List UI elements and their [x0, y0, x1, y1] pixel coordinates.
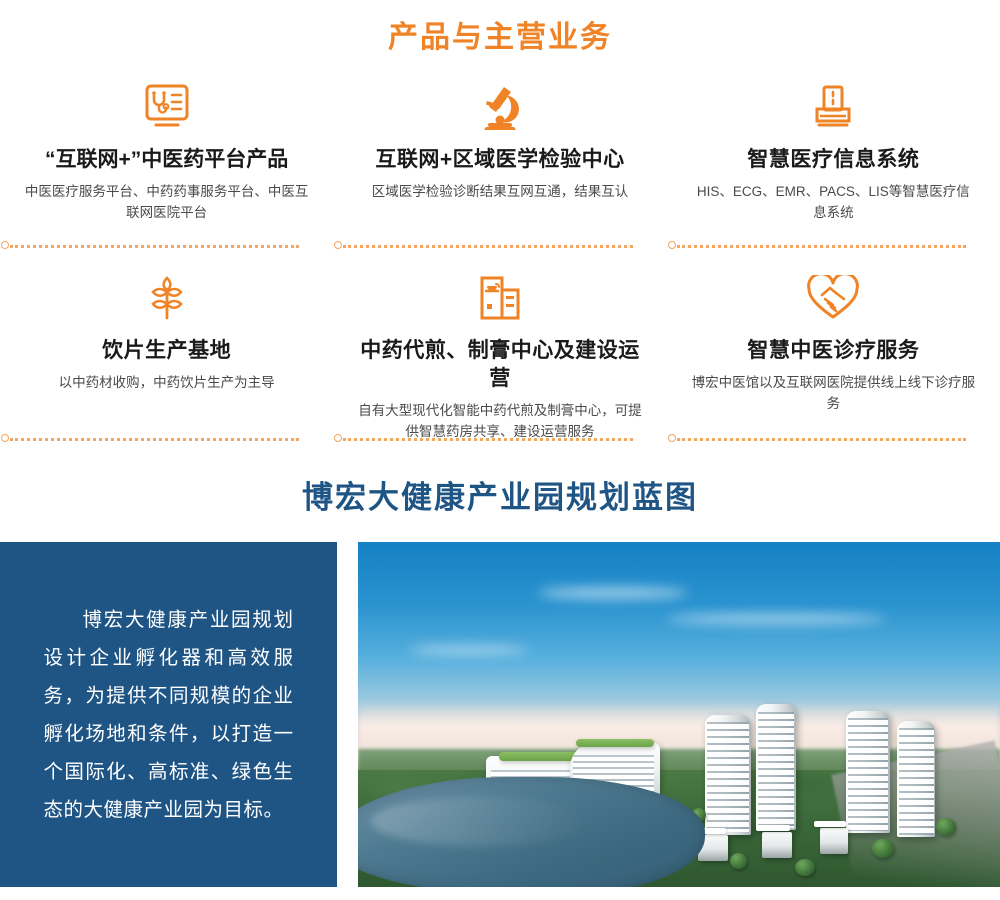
- divider-dot-icon: [1, 434, 9, 442]
- divider-dot-icon: [668, 434, 676, 442]
- product-card-title: 互联网+区域医学检验中心: [351, 146, 648, 174]
- villa-building: [762, 832, 792, 858]
- product-card-title: 中药代煎、制膏中心及建设运营: [351, 337, 648, 393]
- decoction-factory-icon: [351, 271, 648, 325]
- villa-building: [820, 828, 848, 854]
- products-section: 产品与主营业务 “互联网+”中医药平台产品 中医医疗服务平台、中药: [0, 0, 1000, 450]
- divider-dot-icon: [334, 434, 342, 442]
- hospital-building-icon: [685, 80, 982, 134]
- villa-roof: [756, 825, 790, 831]
- product-card-desc: 以中药材收购，中药饮片生产为主导: [24, 372, 309, 393]
- green-roof: [576, 739, 654, 747]
- residential-tower: [897, 721, 935, 837]
- handshake-heart-icon: [685, 271, 982, 325]
- divider-line: [10, 245, 299, 248]
- blueprint-spacer: [337, 542, 358, 887]
- product-card-title: 智慧中医诊疗服务: [685, 337, 982, 365]
- divider-dot-icon: [668, 241, 676, 249]
- divider-line: [10, 438, 299, 441]
- blueprint-section: 博宏大健康产业园规划蓝图 博宏大健康产业园规划设计企业孵化器和高效服务，为提供不…: [0, 476, 1000, 887]
- product-card-regional-lab-center[interactable]: 互联网+区域医学检验中心 区域医学检验诊断结果互网互通，结果互认: [333, 80, 666, 235]
- product-card-decoction-paste-center[interactable]: 中药代煎、制膏中心及建设运营 自有大型现代化智能中药代煎及制膏中心，可提供智慧药…: [333, 271, 666, 428]
- blueprint-text-panel: 博宏大健康产业园规划设计企业孵化器和高效服务，为提供不同规模的企业孵化场地和条件…: [0, 542, 337, 887]
- blueprint-section-title: 博宏大健康产业园规划蓝图: [0, 476, 1000, 520]
- product-card-title: “互联网+”中医药平台产品: [18, 146, 315, 174]
- wheat-herb-icon: [18, 271, 315, 325]
- tree: [872, 839, 894, 858]
- product-card-smart-tcm-clinic-service[interactable]: 智慧中医诊疗服务 博宏中医馆以及互联网医院提供线上线下诊疗服务: [667, 271, 1000, 428]
- cloud-shape: [538, 587, 688, 599]
- products-card-row-1: “互联网+”中医药平台产品 中医医疗服务平台、中药药事服务平台、中医互联网医院平…: [0, 80, 1000, 235]
- product-card-desc: 区域医学检验诊断结果互网互通，结果互认: [357, 181, 642, 202]
- divider-dot-icon: [1, 241, 9, 249]
- products-card-row-2: 饮片生产基地 以中药材收购，中药饮片生产为主导 中药代煎、制膏中心及建设运营 自…: [0, 271, 1000, 428]
- divider-cell: [667, 241, 1000, 251]
- divider-line: [677, 245, 966, 248]
- product-card-desc: 中医医疗服务平台、中药药事服务平台、中医互联网医院平台: [24, 181, 309, 223]
- product-card-title: 饮片生产基地: [18, 337, 315, 365]
- product-card-title: 智慧医疗信息系统: [685, 146, 982, 174]
- product-card-decoction-pieces-base[interactable]: 饮片生产基地 以中药材收购，中药饮片生产为主导: [0, 271, 333, 428]
- tree: [730, 853, 747, 869]
- cloud-shape: [409, 646, 529, 654]
- blueprint-aerial-rendering-image: [358, 542, 1000, 887]
- divider-line: [343, 245, 632, 248]
- tree: [936, 818, 956, 836]
- divider-cell: [333, 241, 666, 251]
- divider-line: [677, 438, 966, 441]
- divider-cell: [0, 241, 333, 251]
- divider-cell: [0, 434, 333, 444]
- blueprint-body: 博宏大健康产业园规划设计企业孵化器和高效服务，为提供不同规模的企业孵化场地和条件…: [0, 542, 1000, 887]
- divider-line: [343, 438, 632, 441]
- medical-record-stethoscope-icon: [18, 80, 315, 134]
- divider-cell: [667, 434, 1000, 444]
- product-card-desc: 博宏中医馆以及互联网医院提供线上线下诊疗服务: [691, 372, 976, 414]
- products-section-title: 产品与主营业务: [0, 18, 1000, 58]
- residential-tower: [756, 704, 796, 830]
- residential-tower: [705, 715, 751, 835]
- lake-reflection: [371, 797, 589, 845]
- residential-tower: [846, 711, 890, 833]
- villa-roof: [814, 821, 846, 827]
- blueprint-paragraph: 博宏大健康产业园规划设计企业孵化器和高效服务，为提供不同规模的企业孵化场地和条件…: [44, 601, 294, 829]
- product-card-smart-medical-info-system[interactable]: 智慧医疗信息系统 HIS、ECG、EMR、PACS、LIS等智慧医疗信息系统: [667, 80, 1000, 235]
- tree: [795, 859, 815, 876]
- divider-dot-icon: [334, 241, 342, 249]
- products-divider-row-1: [0, 235, 1000, 257]
- divider-cell: [333, 434, 666, 444]
- product-card-internet-tcm-platform[interactable]: “互联网+”中医药平台产品 中医医疗服务平台、中药药事服务平台、中医互联网医院平…: [0, 80, 333, 235]
- product-card-desc: HIS、ECG、EMR、PACS、LIS等智慧医疗信息系统: [691, 181, 976, 223]
- microscope-icon: [351, 80, 648, 134]
